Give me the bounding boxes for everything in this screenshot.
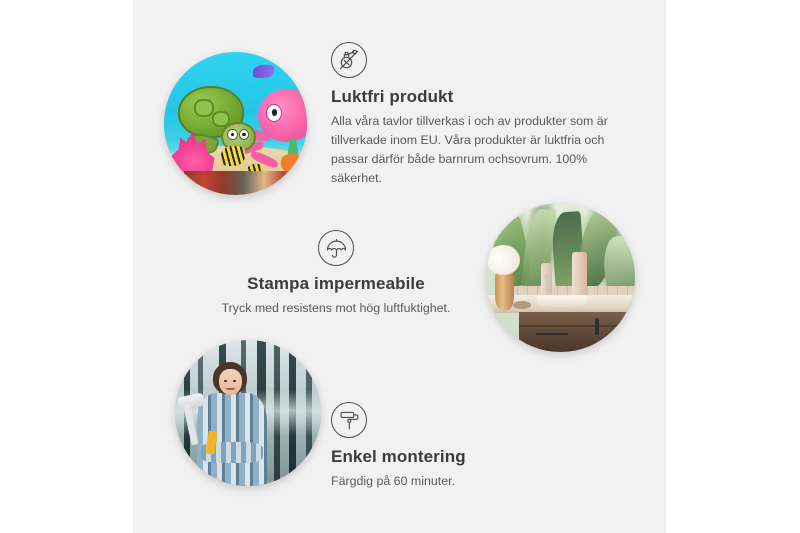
feature-easy-mounting: Enkel montering Färgdig på 60 minuter. (331, 402, 571, 491)
drawer-line (519, 325, 635, 327)
turtle-eye (239, 129, 249, 140)
woman-eye (224, 380, 227, 382)
feature-title: Stampa impermeabile (212, 274, 460, 294)
feature-body: Tryck med resistens mot hög luftfuktighe… (212, 299, 460, 318)
feature-body: Alla våra tavlor tillverkas i och av pro… (331, 112, 621, 187)
turtle-eye (227, 129, 237, 140)
underwater-illustration (164, 52, 307, 195)
door-handle (595, 318, 600, 335)
starfish (281, 154, 304, 173)
feature-waterproof: Stampa impermeabile Tryck med resistens … (212, 230, 460, 318)
vase (495, 269, 514, 311)
basin (537, 295, 588, 307)
photo-bathroom-scene (486, 203, 635, 352)
feature-odour-free: Luktfri produkt Alla våra tavlor tillver… (331, 42, 631, 187)
feature-body: Färgdig på 60 minuter. (331, 472, 571, 491)
decor-pillar (572, 252, 587, 297)
blue-fish (253, 65, 274, 78)
umbrella-icon (318, 230, 354, 266)
woman-smile (226, 387, 235, 390)
photo-underwater-scene (164, 52, 307, 195)
no-fragrance-icon (331, 42, 367, 78)
vanity-cabinet (519, 312, 635, 352)
infographic-root: Luktfri produkt Alla våra tavlor tillver… (0, 0, 800, 533)
octopus-eye (266, 104, 282, 122)
drawer-handle (536, 333, 568, 335)
soap-dish (513, 301, 531, 308)
feature-title: Luktfri produkt (331, 87, 631, 107)
white-flowers (487, 245, 520, 275)
feature-title: Enkel montering (331, 447, 571, 467)
paint-roller-icon (331, 402, 367, 438)
photo-forest-installer-scene (175, 340, 321, 486)
forest-illustration (175, 340, 321, 486)
bathroom-illustration (486, 203, 635, 352)
foreground-strip (184, 171, 298, 195)
woman-eye (233, 380, 236, 382)
